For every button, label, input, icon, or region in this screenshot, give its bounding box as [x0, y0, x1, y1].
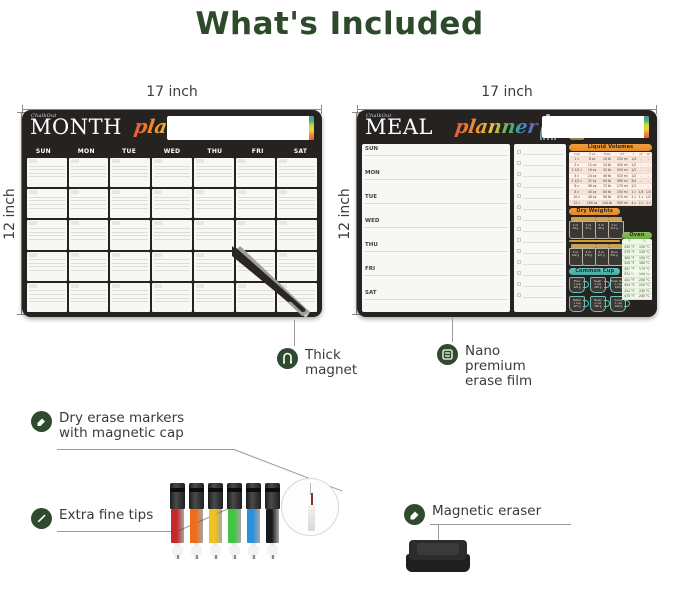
write-rule	[196, 228, 232, 229]
date-number-box	[279, 221, 287, 225]
write-rule	[523, 165, 563, 166]
dry-weight-jar: 5 oz142 g	[569, 244, 582, 266]
write-rule	[365, 299, 507, 300]
cup-label: Flour1 cup120 g	[569, 280, 585, 289]
write-rule	[238, 263, 274, 264]
write-rule	[29, 166, 65, 167]
date-number-box	[154, 221, 162, 225]
write-rule	[154, 301, 190, 302]
dry-weights-band: Dry Weights	[569, 208, 620, 215]
write-rule	[196, 270, 232, 271]
month-cell[interactable]	[27, 158, 67, 187]
month-cell[interactable]	[277, 189, 317, 218]
write-rule	[279, 197, 315, 198]
meal-day-label: MON	[365, 170, 380, 176]
date-number-box	[196, 284, 204, 288]
write-rule	[279, 169, 315, 170]
write-rule	[71, 239, 107, 240]
month-cell[interactable]	[152, 189, 192, 218]
month-cell[interactable]	[277, 252, 317, 281]
date-number-box	[196, 159, 204, 163]
dry-weight-jar: 8 oz227 g	[595, 244, 608, 266]
cup-label: Honey1 cup340 g	[590, 299, 606, 308]
month-cell[interactable]	[69, 252, 109, 281]
month-cell[interactable]	[277, 220, 317, 249]
write-rule	[29, 176, 65, 177]
month-cell[interactable]	[152, 220, 192, 249]
write-rule	[238, 294, 274, 295]
marker-label	[229, 546, 240, 555]
meal-note-box[interactable]	[542, 116, 649, 138]
shopping-list-item[interactable]	[516, 213, 564, 224]
date-number-box	[71, 190, 79, 194]
month-cell[interactable]	[110, 220, 150, 249]
write-rule	[196, 166, 232, 167]
write-rule	[71, 228, 107, 229]
write-rule	[523, 275, 563, 276]
shopping-list-item[interactable]	[516, 158, 564, 169]
dry-weight-jar: 6 oz170 g	[582, 244, 595, 266]
write-rule	[154, 228, 190, 229]
callout-underline	[57, 531, 177, 532]
write-rule	[238, 301, 274, 302]
write-rule	[29, 208, 65, 209]
meal-day-label: WED	[365, 218, 379, 224]
write-rule	[523, 231, 563, 232]
jar-label: 2 oz57 g	[582, 224, 595, 230]
marker-barrel	[247, 509, 260, 543]
write-rule	[279, 266, 315, 267]
month-cell[interactable]	[277, 283, 317, 312]
month-cell[interactable]	[236, 220, 276, 249]
write-rule	[71, 204, 107, 205]
shopping-list-item[interactable]	[516, 202, 564, 213]
write-rule	[112, 176, 148, 177]
date-number-box	[279, 159, 287, 163]
marker-label	[191, 546, 202, 555]
write-rule	[112, 235, 148, 236]
date-number-box	[112, 253, 120, 257]
date-number-box	[71, 253, 79, 257]
write-rule	[196, 301, 232, 302]
checkbox[interactable]	[517, 194, 521, 198]
write-rule	[29, 197, 65, 198]
month-cell[interactable]	[69, 220, 109, 249]
write-rule	[238, 169, 274, 170]
cap-band	[170, 488, 185, 492]
marker-label	[210, 546, 221, 555]
month-cell[interactable]	[152, 283, 192, 312]
write-rule	[365, 155, 507, 156]
magnetic-eraser-product[interactable]	[406, 540, 472, 578]
date-number-box	[154, 284, 162, 288]
shopping-list-item[interactable]	[516, 180, 564, 191]
month-cell[interactable]	[110, 283, 150, 312]
write-rule	[71, 169, 107, 170]
month-day-header-wed: WED	[151, 146, 194, 157]
month-day-header-fri: FRI	[236, 146, 279, 157]
write-rule	[112, 197, 148, 198]
meal-height-label: 12 inch	[337, 188, 353, 240]
write-rule	[154, 235, 190, 236]
write-rule	[71, 266, 107, 267]
month-cell[interactable]	[110, 252, 150, 281]
checkbox[interactable]	[517, 205, 521, 209]
month-calendar-grid[interactable]	[27, 158, 317, 312]
write-rule	[238, 290, 274, 291]
write-rule	[112, 204, 148, 205]
meal-day-row-sat[interactable]: SAT	[362, 288, 510, 312]
checkbox[interactable]	[517, 172, 521, 176]
marker-magnetic-cap[interactable]	[227, 483, 242, 509]
write-rule	[279, 204, 315, 205]
jar-label: 1 oz28 g	[569, 224, 582, 230]
write-rule	[71, 290, 107, 291]
jar-label: 5 oz142 g	[569, 251, 582, 257]
marker-label	[172, 546, 183, 555]
table-row: 5 1/2 c32 oz64 tb960 ml3/4--	[569, 179, 652, 184]
month-cell[interactable]	[277, 158, 317, 187]
eraser-icon	[404, 504, 425, 525]
month-cell[interactable]	[194, 158, 234, 187]
month-cell[interactable]	[110, 189, 150, 218]
feature-extra-fine-tips: Extra fine tips	[31, 508, 153, 529]
write-rule	[196, 263, 232, 264]
oven-band: Oven	[622, 232, 652, 239]
month-title: MONTH	[30, 117, 122, 138]
conversion-chart-panel: Liquid Volumes cupfl oztbspmlLptqt1 c8 o…	[569, 144, 652, 312]
date-number-box	[29, 159, 37, 163]
write-rule	[238, 208, 274, 209]
write-rule	[154, 266, 190, 267]
shopping-list-item[interactable]	[516, 246, 564, 257]
month-cell[interactable]	[27, 252, 67, 281]
write-rule	[29, 298, 65, 299]
checkbox[interactable]	[517, 293, 521, 297]
write-rule	[196, 197, 232, 198]
meal-title: MEAL	[365, 117, 433, 138]
write-rule	[365, 179, 507, 180]
callout-underline	[57, 449, 234, 450]
write-rule	[523, 253, 563, 254]
meal-day-row-mon[interactable]: MON	[362, 168, 510, 192]
marker-icon	[31, 411, 52, 432]
write-rule	[238, 232, 274, 233]
month-cell[interactable]	[194, 220, 234, 249]
date-number-box	[112, 221, 120, 225]
meal-day-label: FRI	[365, 266, 375, 272]
date-number-box	[279, 284, 287, 288]
month-height-dimension: 12 inch	[0, 112, 22, 315]
feature-nano-erase-film: Nano premium erase film	[437, 344, 532, 389]
month-cell[interactable]	[27, 189, 67, 218]
write-rule	[523, 176, 563, 177]
write-rule	[238, 228, 274, 229]
write-rule	[365, 251, 507, 252]
write-rule	[154, 294, 190, 295]
film-layers-icon	[437, 344, 458, 365]
date-number-box	[238, 190, 246, 194]
jar-label: 16 oz454 g	[608, 251, 621, 257]
write-rule	[154, 197, 190, 198]
write-rule	[154, 290, 190, 291]
write-rule	[238, 166, 274, 167]
checkbox[interactable]	[517, 183, 521, 187]
write-rule	[238, 270, 274, 271]
write-rule	[279, 301, 315, 302]
checkbox[interactable]	[517, 249, 521, 253]
shopping-list-item[interactable]	[516, 257, 564, 268]
table-cell: 4 c	[630, 200, 637, 205]
write-rule	[196, 298, 232, 299]
write-rule	[29, 232, 65, 233]
month-cell[interactable]	[236, 189, 276, 218]
write-rule	[154, 232, 190, 233]
marker-barrel	[209, 509, 222, 543]
marker-label	[267, 546, 278, 555]
marker-magnetic-cap[interactable]	[265, 483, 280, 509]
write-rule	[71, 173, 107, 174]
write-rule	[238, 298, 274, 299]
write-rule	[279, 176, 315, 177]
feature-label: Nano premium erase film	[465, 344, 532, 389]
write-rule	[523, 242, 563, 243]
write-rule	[365, 275, 507, 276]
meal-day-row-wed[interactable]: WED	[362, 216, 510, 240]
month-cell[interactable]	[236, 252, 276, 281]
month-planner-board[interactable]: ChalkOut MONTH planner SUNMONTUEWEDTHUFR…	[22, 110, 322, 317]
feature-label: Thick magnet	[305, 348, 357, 378]
shopping-list-item[interactable]	[516, 169, 564, 180]
write-rule	[71, 232, 107, 233]
month-cell[interactable]	[236, 158, 276, 187]
dry-weight-jar: 1 oz28 g	[569, 217, 582, 239]
write-rule	[279, 232, 315, 233]
date-number-box	[154, 159, 162, 163]
month-day-header-row: SUNMONTUEWEDTHUFRISAT	[22, 146, 322, 157]
month-cell[interactable]	[152, 158, 192, 187]
month-header: ChalkOut MONTH planner	[22, 110, 322, 146]
write-rule	[154, 166, 190, 167]
write-rule	[279, 270, 315, 271]
write-rule	[112, 228, 148, 229]
month-day-header-mon: MON	[65, 146, 108, 157]
meal-day-row-thu[interactable]: THU	[362, 240, 510, 264]
dry-weights-jars-row-1: 1 oz28 g2 oz57 g3 oz85 g4 oz113 g	[569, 217, 620, 239]
write-rule	[279, 263, 315, 264]
date-number-box	[238, 221, 246, 225]
date-number-box	[112, 284, 120, 288]
month-cell[interactable]	[194, 283, 234, 312]
date-number-box	[238, 284, 246, 288]
checkbox[interactable]	[517, 216, 521, 220]
write-rule	[71, 235, 107, 236]
write-rule	[154, 259, 190, 260]
callout-underline	[430, 524, 571, 525]
shopping-list-item[interactable]	[516, 147, 564, 158]
write-rule	[71, 176, 107, 177]
date-number-box	[196, 221, 204, 225]
meal-day-rows[interactable]: SUNMONTUEWEDTHUFRISAT	[362, 144, 510, 312]
liquid-volumes-table: cupfl oztbspmlLptqt1 c8 oz16 tb250 ml1/4…	[569, 152, 652, 206]
month-cell[interactable]	[236, 283, 276, 312]
meal-title-script: planner	[454, 118, 539, 137]
write-rule	[29, 200, 65, 201]
write-rule	[112, 266, 148, 267]
write-rule	[238, 239, 274, 240]
write-rule	[112, 200, 148, 201]
meal-height-dimension: 12 inch	[335, 112, 357, 315]
write-rule	[154, 270, 190, 271]
write-rule	[196, 294, 232, 295]
date-number-box	[279, 253, 287, 257]
dry-weight-jar: 3 oz85 g	[595, 217, 608, 239]
month-cell[interactable]	[27, 220, 67, 249]
checkbox[interactable]	[517, 227, 521, 231]
write-rule	[523, 297, 563, 298]
jar-label: 6 oz170 g	[582, 251, 595, 257]
meal-day-row-fri[interactable]: FRI	[362, 264, 510, 288]
spoons-rows: 1 tsp= 5 ml1 tbsp= 15 ml	[624, 278, 652, 296]
meal-day-row-tue[interactable]: TUE	[362, 192, 510, 216]
marker-magnetic-cap[interactable]	[189, 483, 204, 509]
shopping-list-item[interactable]	[516, 191, 564, 202]
month-cell[interactable]	[69, 283, 109, 312]
write-rule	[196, 266, 232, 267]
write-rule	[154, 200, 190, 201]
jar-label: 8 oz227 g	[595, 251, 608, 257]
shopping-list-panel[interactable]	[514, 144, 566, 312]
write-rule	[71, 270, 107, 271]
write-rule	[154, 208, 190, 209]
write-rule	[238, 259, 274, 260]
write-rule	[365, 227, 507, 228]
divider	[569, 240, 620, 242]
write-rule	[523, 264, 563, 265]
month-cell[interactable]	[27, 283, 67, 312]
marker-magnetic-cap[interactable]	[170, 483, 185, 509]
write-rule	[523, 198, 563, 199]
pen-nib-icon	[31, 508, 52, 529]
write-rule	[29, 266, 65, 267]
write-rule	[238, 176, 274, 177]
date-number-box	[112, 159, 120, 163]
shopping-list-item[interactable]	[516, 224, 564, 235]
month-cell[interactable]	[152, 252, 192, 281]
write-rule	[112, 294, 148, 295]
infographic-root: What's Included 17 inch 12 inch ChalkOut…	[0, 0, 679, 590]
month-cell[interactable]	[110, 158, 150, 187]
write-rule	[154, 176, 190, 177]
write-rule	[112, 169, 148, 170]
date-number-box	[196, 190, 204, 194]
cup-label: Butter1 cup227 g	[569, 299, 585, 308]
feature-magnetic-eraser: Magnetic eraser	[404, 504, 541, 525]
marker-magnetic-cap[interactable]	[208, 483, 223, 509]
write-rule	[196, 173, 232, 174]
month-cell[interactable]	[194, 189, 234, 218]
shopping-list-item[interactable]	[516, 235, 564, 246]
meal-day-label: THU	[365, 242, 378, 248]
write-rule	[238, 200, 274, 201]
write-rule	[279, 298, 315, 299]
checkbox[interactable]	[517, 150, 521, 154]
write-rule	[112, 270, 148, 271]
table-row: 2 1/2 c16 oz32 tb500 ml1/2--	[569, 168, 652, 173]
write-rule	[279, 200, 315, 201]
table-cell: 1 c	[645, 200, 652, 205]
marker-magnetic-cap[interactable]	[246, 483, 261, 509]
cap-band	[208, 488, 223, 492]
month-cell[interactable]	[69, 189, 109, 218]
checkbox[interactable]	[517, 282, 521, 286]
shopping-list-item[interactable]	[516, 279, 564, 290]
dry-weights-jars-row-2: 5 oz142 g6 oz170 g8 oz227 g16 oz454 g	[569, 244, 620, 266]
checkbox[interactable]	[517, 161, 521, 165]
write-rule	[29, 228, 65, 229]
spoons-title: Spoons	[624, 268, 652, 275]
shopping-list-item[interactable]	[516, 268, 564, 279]
checkbox[interactable]	[517, 260, 521, 264]
write-rule	[71, 298, 107, 299]
write-rule	[112, 263, 148, 264]
checkbox[interactable]	[517, 238, 521, 242]
month-note-box[interactable]	[167, 116, 314, 140]
write-rule	[29, 301, 65, 302]
marker-set[interactable]	[170, 483, 285, 575]
write-rule	[29, 173, 65, 174]
month-cell[interactable]	[69, 158, 109, 187]
write-rule	[112, 298, 148, 299]
marker-barrel	[190, 509, 203, 543]
date-number-box	[154, 190, 162, 194]
write-rule	[29, 294, 65, 295]
write-rule	[29, 263, 65, 264]
month-cell[interactable]	[194, 252, 234, 281]
fine-tip-magnifier	[281, 478, 339, 536]
table-cell: 160 oz	[585, 200, 600, 205]
write-rule	[238, 204, 274, 205]
date-number-box	[71, 221, 79, 225]
meal-planner-board[interactable]: ChalkOut MEAL planner SUNMONTUEWEDTHU	[357, 110, 657, 317]
date-number-box	[29, 221, 37, 225]
month-day-header-sun: SUN	[22, 146, 65, 157]
marker-tip-body	[308, 505, 315, 531]
month-width-dimension: 17 inch	[22, 88, 322, 110]
marker-barrel	[171, 509, 184, 543]
shopping-list-item[interactable]	[516, 290, 564, 301]
write-rule	[523, 154, 563, 155]
feature-label: Dry erase markers with magnetic cap	[59, 411, 184, 441]
rainbow-strip-icon	[309, 116, 314, 140]
write-rule	[196, 204, 232, 205]
table-cell: 200 ml	[614, 189, 630, 194]
write-rule	[279, 294, 315, 295]
write-rule	[196, 259, 232, 260]
marker-label	[248, 546, 259, 555]
cap-band	[227, 488, 242, 492]
write-rule	[196, 235, 232, 236]
jar-label: 3 oz85 g	[595, 224, 608, 230]
cup-measure: Butter1 cup227 g	[569, 296, 589, 313]
checkbox[interactable]	[517, 271, 521, 275]
feature-dry-erase-markers: Dry erase markers with magnetic cap	[31, 411, 184, 441]
jar-label: 4 oz113 g	[608, 224, 621, 230]
write-rule	[279, 208, 315, 209]
write-rule	[196, 176, 232, 177]
meal-day-row-sun[interactable]: SUN	[362, 144, 510, 168]
meal-day-label: SUN	[365, 146, 378, 152]
